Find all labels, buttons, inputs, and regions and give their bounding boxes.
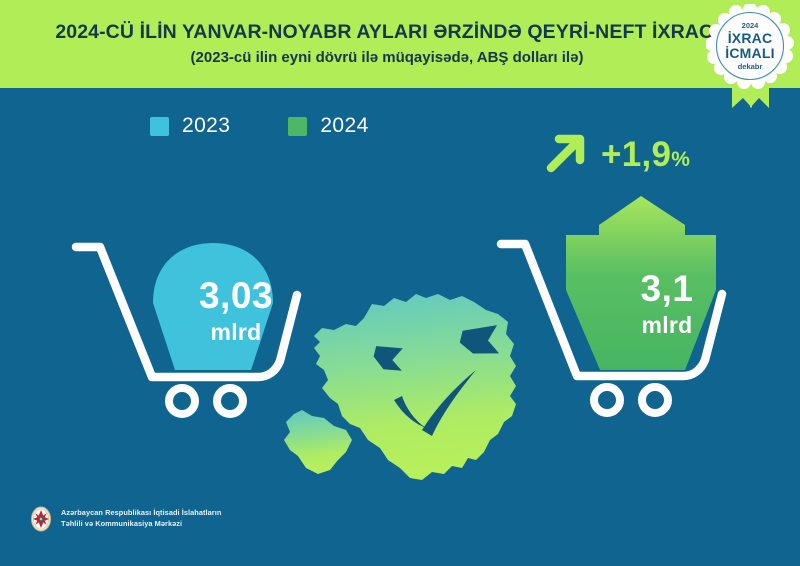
legend-item-2023: 2023 bbox=[150, 114, 230, 138]
cart-2024-fill bbox=[566, 196, 716, 370]
seal-graphic bbox=[706, 4, 794, 112]
growth-indicator: +1,9% bbox=[543, 132, 690, 176]
footer-text-block: Azərbaycan Respublikası İqtisadi İslahat… bbox=[61, 508, 221, 529]
cart-2023-wheel-left bbox=[169, 388, 195, 414]
azerbaijan-state-emblem-icon bbox=[30, 505, 52, 533]
growth-number: +1,9 bbox=[601, 135, 671, 174]
ixrac-icmali-seal: 2024 İXRAC İCMALI dekabr bbox=[706, 4, 794, 112]
cart-2024-wheel-left bbox=[594, 387, 620, 413]
arrow-up-right-icon bbox=[543, 132, 587, 176]
legend: 2023 2024 bbox=[150, 114, 369, 138]
page-title: 2024-CÜ İLİN YANVAR-NOYABR AYLARI ƏRZİND… bbox=[55, 21, 744, 43]
header-banner: 2024-CÜ İLİN YANVAR-NOYABR AYLARI ƏRZİND… bbox=[0, 0, 800, 88]
header-text-block: 2024-CÜ İLİN YANVAR-NOYABR AYLARI ƏRZİND… bbox=[0, 0, 800, 88]
map-nakhchivan bbox=[284, 410, 352, 474]
legend-swatch-2023 bbox=[150, 117, 169, 136]
growth-value: +1,9% bbox=[601, 137, 690, 172]
azerbaijan-map-graphic bbox=[276, 288, 546, 488]
infographic-canvas: 2024-CÜ İLİN YANVAR-NOYABR AYLARI ƏRZİND… bbox=[0, 0, 800, 566]
footer-line-1: Azərbaycan Respublikası İqtisadi İslahat… bbox=[61, 508, 221, 519]
legend-label-2023: 2023 bbox=[182, 114, 230, 138]
legend-item-2024: 2024 bbox=[288, 114, 368, 138]
footer: Azərbaycan Respublikası İqtisadi İslahat… bbox=[30, 505, 221, 533]
cart-2023-fill bbox=[153, 243, 273, 370]
growth-percent-sign: % bbox=[671, 148, 690, 171]
cart-2024-wheel-right bbox=[642, 387, 668, 413]
legend-label-2024: 2024 bbox=[320, 114, 368, 138]
azerbaijan-map bbox=[276, 288, 546, 488]
cart-2023-wheel-right bbox=[217, 388, 243, 414]
legend-swatch-2024 bbox=[288, 117, 307, 136]
footer-line-2: Təhlili və Kommunikasiya Mərkəzi bbox=[61, 519, 221, 530]
page-subtitle: (2023-cü ilin eyni dövrü ilə müqayisədə,… bbox=[191, 49, 610, 67]
